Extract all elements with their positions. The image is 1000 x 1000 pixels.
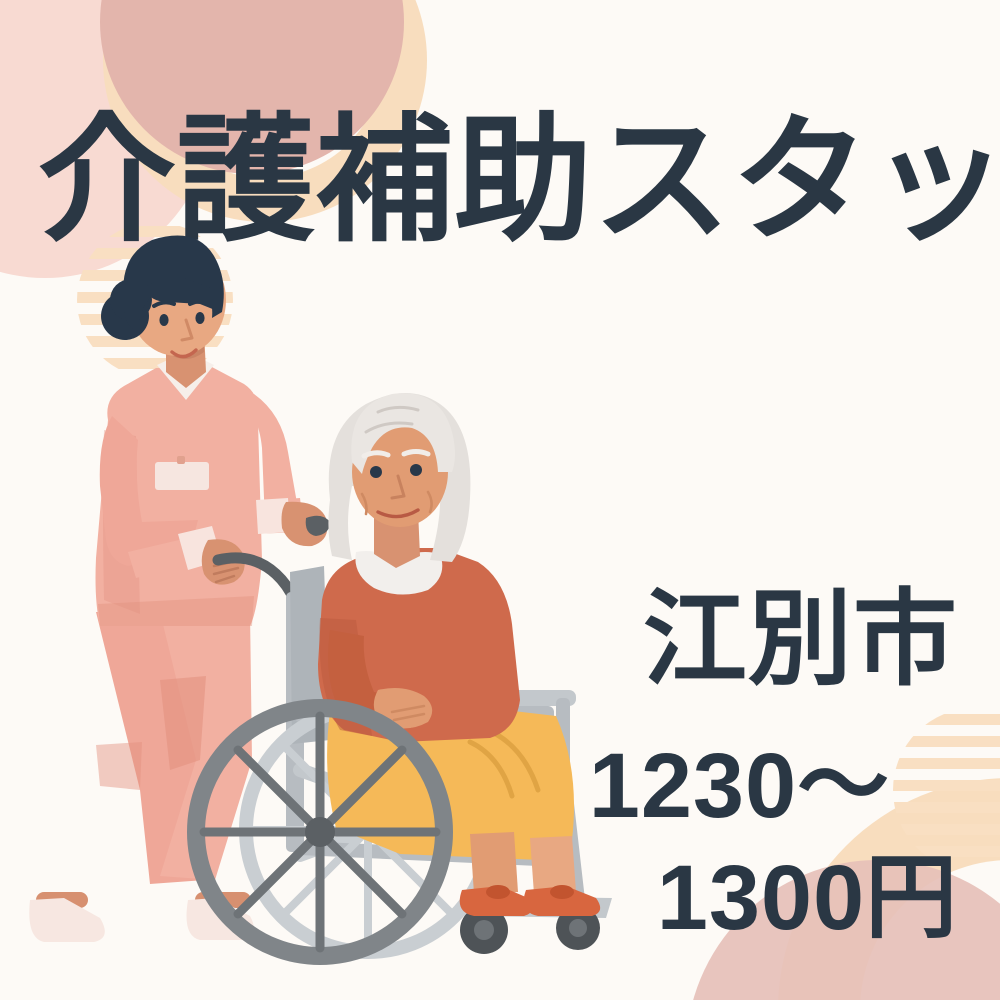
wheelchair-caster-rear-hub (569, 919, 587, 937)
wheelchair-near-wheel-hub (305, 817, 335, 847)
poster-canvas: 介護補助スタッフ 江別市 1230〜 1300円 (0, 0, 1000, 1000)
elderly-eye-left (370, 466, 382, 478)
caregiver-illustration (0, 0, 1000, 1000)
caregiver-name-badge (155, 462, 209, 490)
wheelchair-caster-front-hub (474, 920, 494, 940)
elderly-eyebrow-right (404, 452, 428, 455)
elderly-woman-figure (318, 393, 600, 916)
elderly-eye-right (410, 464, 422, 476)
elderly-leg-front (530, 836, 576, 894)
elderly-shoe-front-toe (550, 885, 574, 899)
caregiver-eye-right (195, 312, 204, 324)
caregiver-badge-clip-icon (177, 456, 185, 464)
wheelchair-near-wheel-group (196, 708, 444, 956)
caregiver-leg-shading-2 (96, 742, 142, 790)
caregiver-eye-left (159, 314, 168, 326)
elderly-leg-back (470, 832, 518, 894)
elderly-shoe-back-toe (486, 885, 510, 899)
caregiver-shoe-back (29, 898, 105, 942)
